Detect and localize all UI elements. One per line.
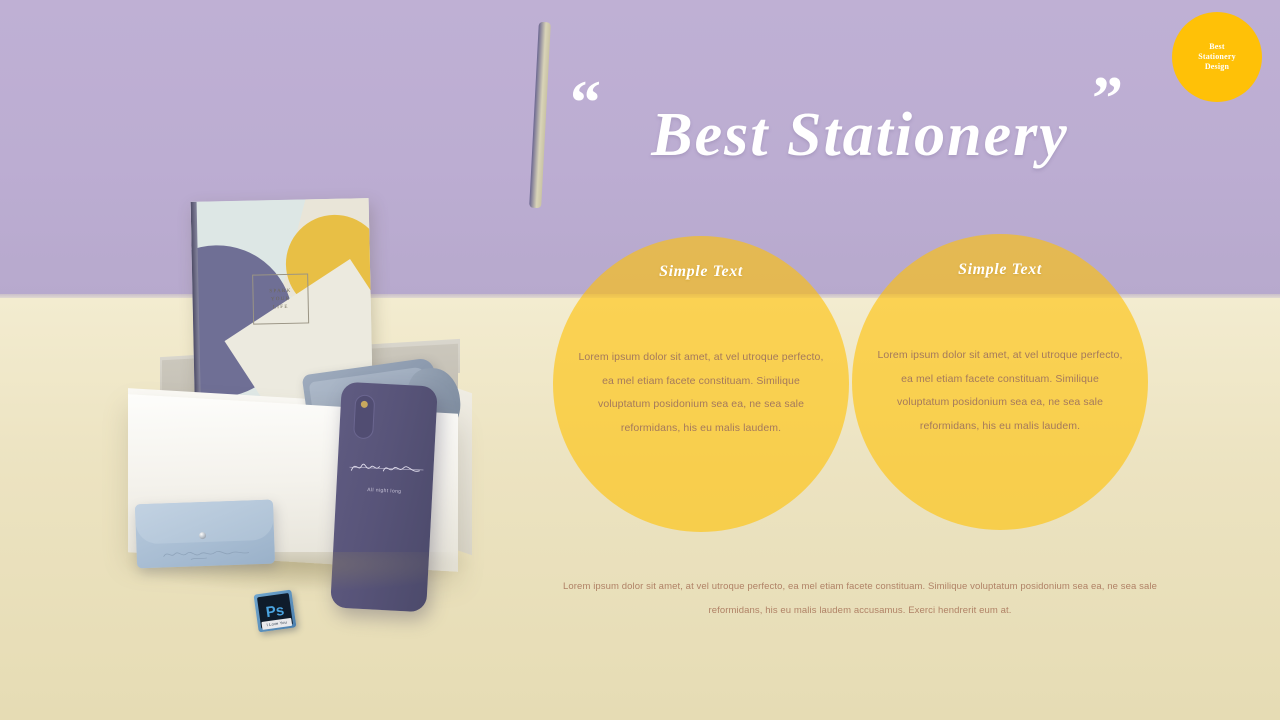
bubble-right-body: Lorem ipsum dolor sit amet, at vel utroq… [876,344,1124,439]
card-pouch-script-artwork [160,544,252,561]
phone-script-artwork [349,456,424,482]
product-photo: SPARK YOUR LIFE All night long [0,0,540,720]
notebook-label-line-1: SPARK [269,288,291,293]
slide-canvas: SPARK YOUR LIFE All night long [0,0,1280,720]
bubble-left-body: Lorem ipsum dolor sit amet, at vel utroq… [577,346,825,441]
best-stationery-design-badge[interactable]: Best Stationery Design [1172,12,1262,102]
bubble-left-title: Simple Text [553,263,849,281]
card-pouch [135,500,275,569]
pin-text: Ps [265,602,285,619]
badge-line-2: Stationery [1198,52,1236,62]
phone-caption: All night long [336,486,432,497]
badge-line-1: Best [1209,42,1224,52]
notebook-label-line-2: YOUR [271,296,290,301]
photoshop-pin-badge: Ps I Love You [254,590,297,633]
notebook-label: SPARK YOUR LIFE [252,273,309,324]
badge-line-3: Design [1205,62,1229,72]
footnote-paragraph: Lorem ipsum dolor sit amet, at vel utroq… [540,575,1180,623]
notebook-label-line-3: LIFE [273,304,289,309]
bubble-right-title: Simple Text [852,261,1148,279]
page-title: Best Stationery [560,100,1160,171]
